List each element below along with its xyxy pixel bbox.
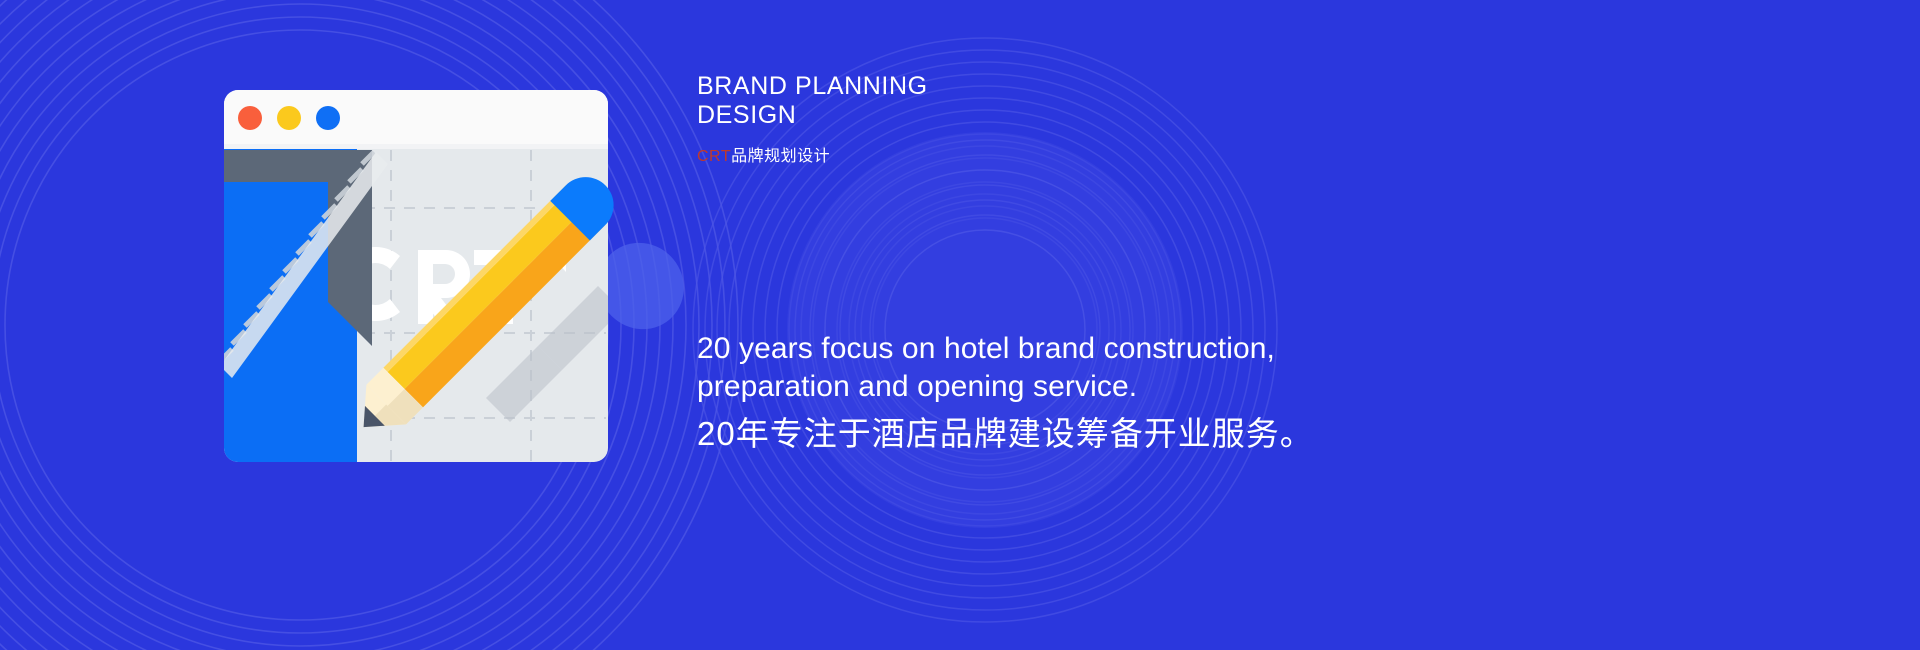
tagline-chinese: 20年专注于酒店品牌建设筹备开业服务。	[697, 413, 1314, 455]
maximize-dot	[316, 106, 340, 130]
tagline-english: 20 years focus on hotel brand constructi…	[697, 330, 1377, 406]
banner-copy-column: BRAND PLANNING DESIGN CRT品牌规划设计 20 years…	[697, 0, 1797, 650]
eyebrow-cn-rest: 品牌规划设计	[731, 148, 830, 165]
close-dot	[238, 106, 262, 130]
eyebrow-heading-cn: CRT品牌规划设计	[697, 142, 830, 166]
eyebrow-heading-en: BRAND PLANNING DESIGN	[697, 72, 1257, 130]
window-control-dots	[238, 106, 340, 130]
eyebrow-brand-crt: CRT	[697, 148, 731, 165]
minimize-dot	[277, 106, 301, 130]
brand-design-illustration	[186, 78, 686, 478]
promo-banner: BRAND PLANNING DESIGN CRT品牌规划设计 20 years…	[0, 0, 1920, 650]
